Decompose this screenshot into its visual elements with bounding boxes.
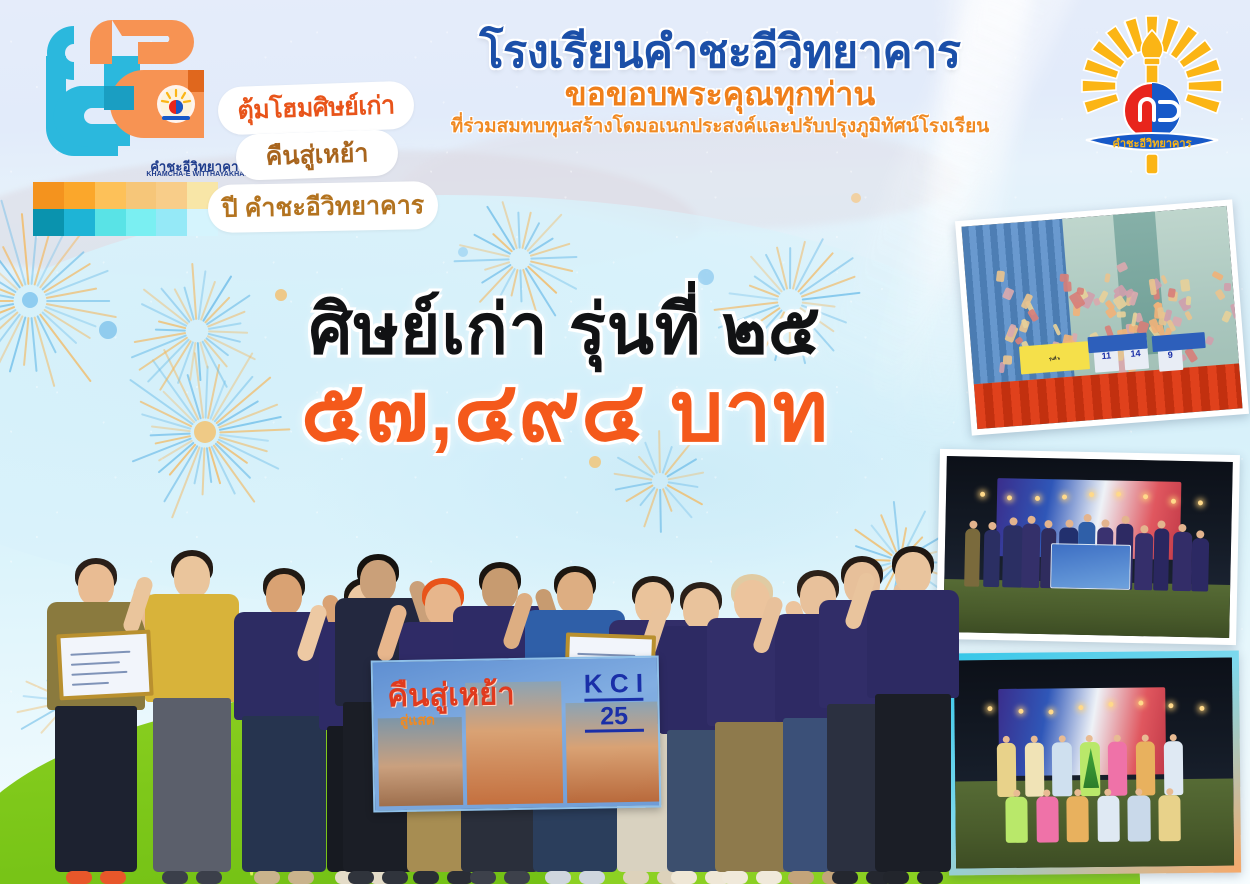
dancer-figure	[1036, 797, 1059, 843]
dancer-figure	[1067, 796, 1090, 842]
palette-swatch-6	[33, 209, 64, 236]
dancer-figure	[1005, 797, 1028, 843]
person-figure	[1172, 531, 1193, 591]
dancer-figure	[1163, 741, 1183, 795]
palette-swatch-3	[126, 182, 157, 209]
dancer-figure	[1024, 743, 1044, 797]
decorative-dot	[698, 269, 714, 285]
dancer-figure	[996, 743, 1016, 797]
person-figure	[1021, 524, 1040, 588]
headline-batch: ศิษย์เก่า รุ่นที่ ๒๕	[205, 295, 925, 365]
headline-amount: ๕๗,๔๙๔ บาท	[205, 369, 925, 453]
thank-you-line: ขอขอบพระคุณทุกท่าน	[380, 77, 1060, 112]
banner-batch-number: 25	[584, 704, 644, 733]
anniversary-school-name-en: KHAMCHA-E WITTHAYAKHAN	[138, 171, 258, 178]
anniversary-logo: คำชะอีวิทยาคาร KHAMCHA-E WITTHAYAKHAN	[26, 8, 236, 178]
string-light-icon	[1062, 494, 1067, 499]
decorative-dot	[458, 247, 468, 257]
photo-alumni-group	[936, 449, 1240, 645]
dancer-figure	[1158, 795, 1181, 841]
person-figure	[1134, 533, 1153, 591]
decorative-dot	[99, 321, 117, 339]
string-light-icon	[1170, 498, 1175, 503]
school-emblem-icon: คำชะอีวิทยาคาร	[1062, 8, 1242, 183]
reunion-banner: คืนสู่เหย้า สู่แสด K C I 25	[371, 655, 662, 812]
palette-swatch-2	[95, 182, 126, 209]
headline-block: ศิษย์เก่า รุ่นที่ ๒๕ ๕๗,๔๙๔ บาท	[205, 295, 925, 453]
palette-swatch-0	[33, 182, 64, 209]
palette-swatch-10	[156, 209, 187, 236]
palette-swatch-4	[156, 182, 187, 209]
poster-canvas: ⋎⋎ ⋎ ⋎⋎ ⋎	[0, 0, 1250, 884]
string-light-icon	[1089, 492, 1094, 497]
school-title: โรงเรียนคำชะอีวิทยาคาร	[380, 28, 1060, 75]
dancer-figure	[1052, 742, 1072, 796]
badge-label: คืนสู่เหย้า	[265, 133, 369, 177]
purpose-line: ที่ร่วมสมทบทุนสร้างโดมอเนกประสงค์และปรับ…	[380, 116, 1060, 139]
string-light-icon	[1108, 701, 1113, 706]
dancer-figure	[1097, 796, 1120, 842]
person-figure	[1191, 538, 1210, 591]
brand-color-palette	[33, 182, 218, 236]
string-light-icon	[1116, 491, 1121, 496]
alumni-person	[858, 546, 968, 884]
photo-thai-dance	[947, 650, 1241, 875]
emblem-ribbon-text: คำชะอีวิทยาคาร	[1112, 137, 1191, 150]
person-figure	[983, 530, 1000, 587]
dancer-figure	[1128, 796, 1151, 842]
badge-label: ตุ้มโฮมศิษย์เก่า	[237, 85, 395, 130]
palette-swatch-8	[95, 209, 126, 236]
anniversary-numeral-54-icon	[26, 8, 236, 158]
dancer-figure	[1108, 742, 1128, 796]
palette-swatch-9	[126, 209, 157, 236]
school-emblem: คำชะอีวิทยาคาร	[1062, 8, 1242, 183]
palette-swatch-7	[64, 209, 95, 236]
banner-kci-label: K C I 25	[584, 670, 644, 733]
banner-subtitle: สู่แสด	[400, 709, 436, 732]
palette-swatch-1	[64, 182, 95, 209]
header-text-block: โรงเรียนคำชะอีวิทยาคาร ขอขอบพระคุณทุกท่า…	[380, 28, 1060, 139]
badge-kuensuyao: คืนสู่เหย้า	[235, 129, 399, 181]
banner-kci-text: K C I	[584, 670, 644, 702]
person-figure	[1153, 529, 1169, 591]
dancer-figure	[1135, 742, 1155, 796]
badge-pi-khamchae: ปี คำชะอีวิทยาคาร	[208, 181, 439, 233]
badge-label: ปี คำชะอีวิทยาคาร	[221, 185, 424, 229]
string-light-icon	[1198, 500, 1203, 505]
string-light-icon	[1048, 709, 1053, 714]
person-figure	[1002, 525, 1023, 588]
certificate	[56, 630, 153, 701]
photo-money-trees: รุ่นที่ ๖ 11 14 9	[955, 199, 1249, 435]
string-light-icon	[1018, 709, 1023, 714]
decorative-dot	[851, 193, 861, 203]
